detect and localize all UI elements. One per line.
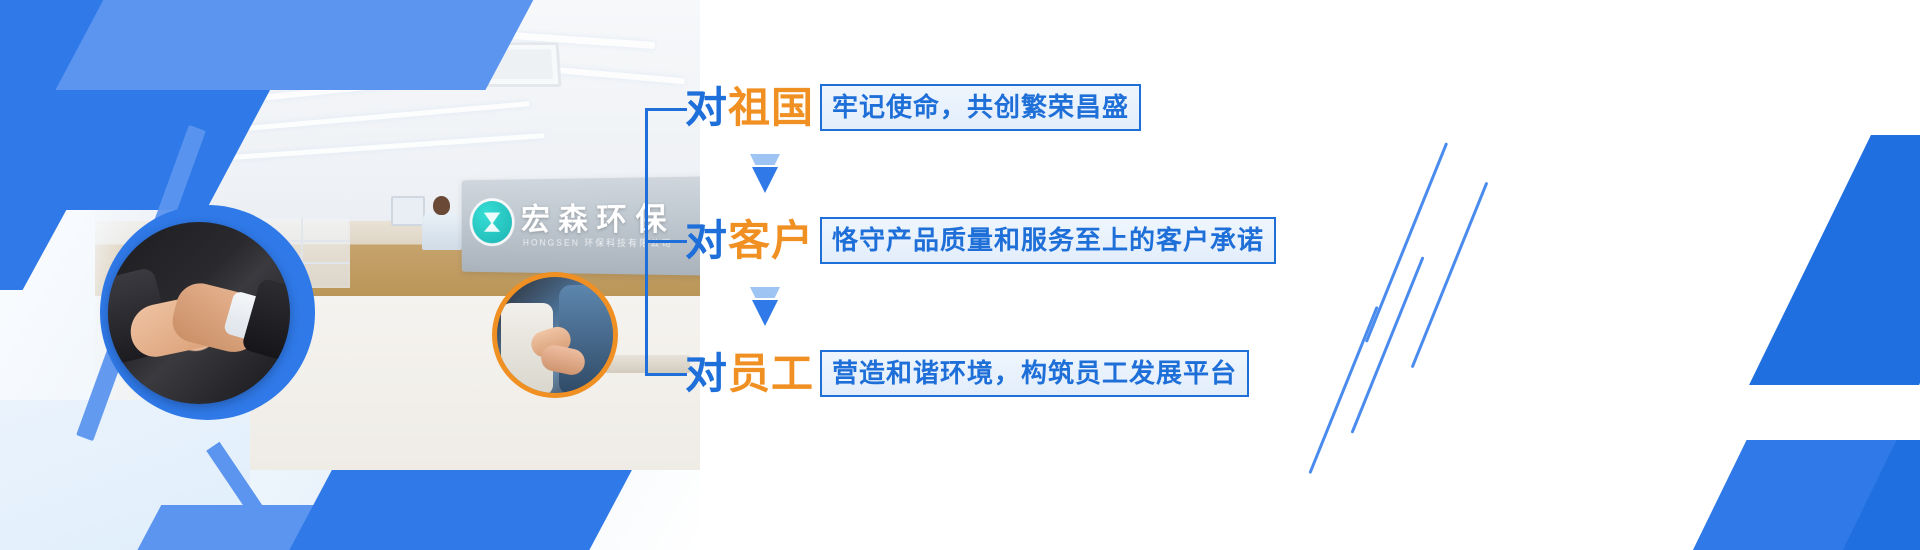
- bracket-tick-1: [645, 108, 687, 111]
- value-row-target: 客户: [728, 217, 814, 264]
- value-row-prefix: 对: [685, 217, 728, 264]
- bracket-tick-3: [645, 373, 687, 376]
- value-row-description: 牢记使命，共创繁荣昌盛: [820, 84, 1141, 131]
- company-logo-icon: [472, 201, 512, 244]
- value-row-employee: 对员工 营造和谐环境，构筑员工发展平台: [685, 350, 1249, 397]
- value-row-target: 祖国: [728, 84, 814, 131]
- receptionist-head: [433, 196, 450, 215]
- applause-circle-photo: [497, 277, 613, 393]
- top-left-parallelogram-light: [55, 0, 554, 90]
- down-arrow-icon: [745, 287, 785, 326]
- value-row-description: 营造和谐环境，构筑员工发展平台: [820, 350, 1249, 397]
- receptionist-body: [422, 212, 462, 250]
- value-row-title: 对客户: [685, 220, 814, 262]
- thin-diagonal-line-2: [1411, 182, 1489, 369]
- value-row-title: 对员工: [685, 353, 814, 395]
- company-values-banner: 宏森环保 HONGSEN 环保科技有限公司: [0, 0, 1920, 550]
- values-text-block: 对祖国 牢记使命，共创繁荣昌盛 对客户 恪守产品质量和服务至上的客户承诺 对员工…: [645, 62, 1345, 422]
- photo-collage: 宏森环保 HONGSEN 环保科技有限公司: [0, 0, 700, 550]
- reception-monitor: [391, 196, 425, 226]
- right-parallelogram: [1749, 135, 1920, 385]
- value-row-prefix: 对: [685, 84, 728, 131]
- down-arrow-icon: [745, 154, 785, 193]
- value-row-description: 恪守产品质量和服务至上的客户承诺: [820, 217, 1276, 264]
- value-row-country: 对祖国 牢记使命，共创繁荣昌盛: [685, 84, 1141, 131]
- value-row-customer: 对客户 恪守产品质量和服务至上的客户承诺: [685, 217, 1276, 264]
- value-row-target: 员工: [728, 350, 814, 397]
- value-row-prefix: 对: [685, 350, 728, 397]
- handshake-circle-photo: [108, 222, 290, 404]
- value-row-title: 对祖国: [685, 87, 814, 129]
- bracket-tick-2: [645, 240, 687, 243]
